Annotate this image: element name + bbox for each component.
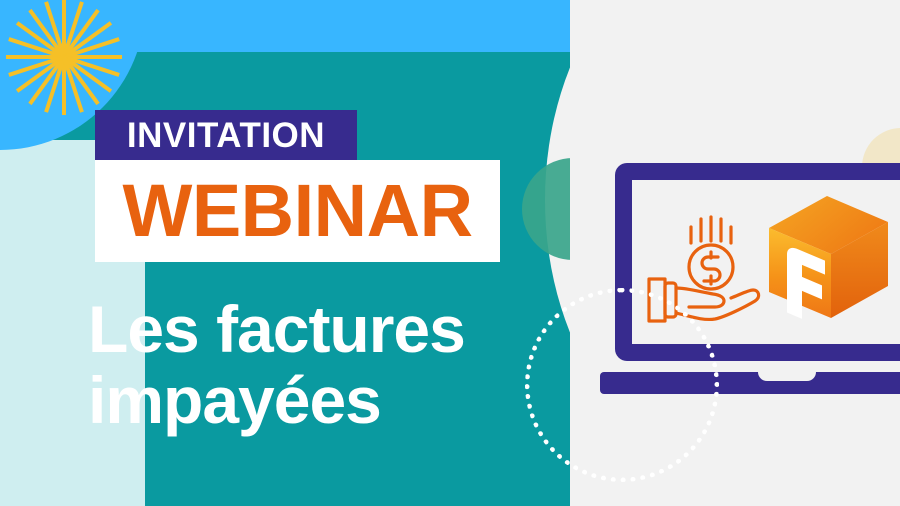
- laptop-notch: [758, 372, 816, 381]
- webinar-band: WEBINAR: [95, 160, 500, 262]
- headline-line-1: Les factures: [88, 292, 465, 366]
- background-blue-upper-right: [145, 0, 570, 52]
- headline-line-2: impayées: [88, 365, 538, 436]
- webinar-invitation-poster: INVITATION WEBINAR Les factures impayées: [0, 0, 900, 506]
- f-cube-logo: [765, 192, 890, 320]
- starburst-icon: [5, 0, 123, 116]
- invitation-badge: INVITATION: [95, 110, 357, 160]
- page-title: Les factures impayées: [88, 294, 538, 435]
- decorative-dotted-circle: [525, 288, 719, 482]
- invitation-label: INVITATION: [127, 118, 325, 153]
- webinar-label: WEBINAR: [122, 174, 472, 248]
